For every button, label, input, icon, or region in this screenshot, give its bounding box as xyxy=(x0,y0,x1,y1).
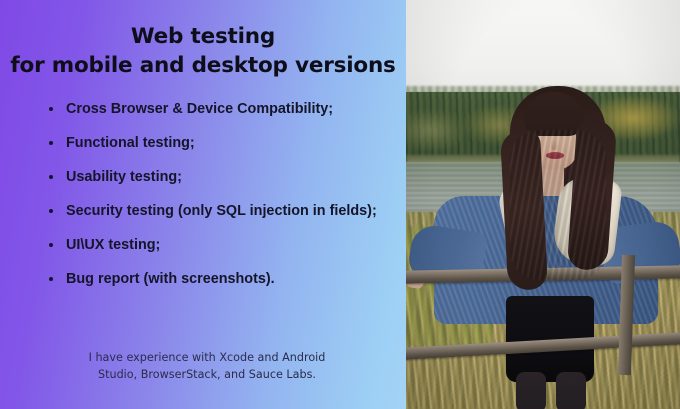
bullet-icon xyxy=(49,175,53,179)
list-item: Bug report (with screenshots). xyxy=(46,270,398,288)
list-item-label: UI\UX testing; xyxy=(66,237,160,253)
title-line-2: for mobile and desktop versions xyxy=(6,51,400,80)
list-item-label: Usability testing; xyxy=(66,169,182,185)
list-item: Functional testing; xyxy=(46,134,398,152)
list-item: UI\UX testing; xyxy=(46,236,398,254)
list-item-label: Functional testing; xyxy=(66,135,195,151)
list-item-label: Cross Browser & Device Compatibility; xyxy=(66,101,333,117)
bullet-icon xyxy=(49,209,53,213)
bullet-icon xyxy=(49,243,53,247)
list-item: Cross Browser & Device Compatibility; xyxy=(46,100,398,118)
experience-note-line-2: Studio, BrowserStack, and Sauce Labs. xyxy=(52,366,362,383)
bullet-icon xyxy=(49,277,53,281)
portrait-photo xyxy=(406,0,680,409)
service-card: Web testing for mobile and desktop versi… xyxy=(0,0,680,409)
experience-note: I have experience with Xcode and Android… xyxy=(52,349,362,383)
service-list: Cross Browser & Device Compatibility; Fu… xyxy=(46,100,398,288)
page-title: Web testing for mobile and desktop versi… xyxy=(0,22,406,80)
photo-vignette xyxy=(406,0,680,409)
bullet-icon xyxy=(49,141,53,145)
bullet-icon xyxy=(49,107,53,111)
list-item: Security testing (only SQL injection in … xyxy=(46,202,398,220)
info-panel: Web testing for mobile and desktop versi… xyxy=(0,0,406,409)
experience-note-line-1: I have experience with Xcode and Android xyxy=(52,349,362,366)
list-item-label: Bug report (with screenshots). xyxy=(66,271,275,287)
list-item-label: Security testing (only SQL injection in … xyxy=(66,203,377,219)
title-line-1: Web testing xyxy=(6,22,400,51)
list-item: Usability testing; xyxy=(46,168,398,186)
